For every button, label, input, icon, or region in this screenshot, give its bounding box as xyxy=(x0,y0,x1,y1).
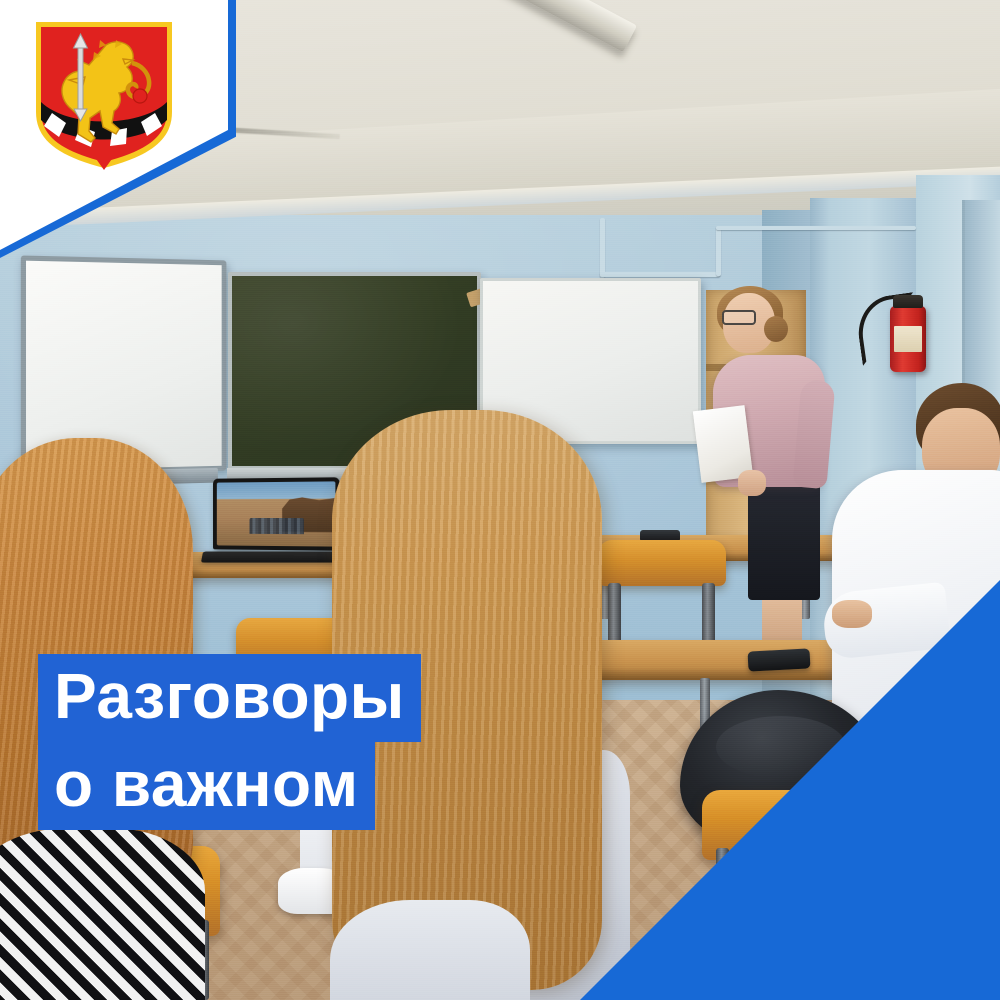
headline-banner: Разговоры о важном xyxy=(38,654,421,830)
headline-line-1: Разговоры xyxy=(38,654,421,742)
teacher-hair-bun xyxy=(764,316,788,342)
smartphone xyxy=(748,648,811,671)
student-center-shirt-lower xyxy=(330,900,530,1000)
student-right-hand xyxy=(832,600,872,628)
wall-conduit-vertical xyxy=(600,218,605,278)
laptop-base xyxy=(201,552,353,563)
laptop xyxy=(213,477,339,550)
poster-canvas: Разговоры о важном xyxy=(0,0,1000,1000)
wall-conduit-horizontal xyxy=(600,272,720,277)
coat-of-arms xyxy=(28,16,180,174)
student-left-jacket xyxy=(0,828,205,1000)
extinguisher-cap xyxy=(893,295,923,308)
wall-conduit-top xyxy=(716,226,916,230)
wall-conduit-riser xyxy=(716,226,721,276)
laptop-image-crowd xyxy=(249,518,304,535)
laptop-screen-image xyxy=(217,481,336,546)
extinguisher-label xyxy=(894,326,922,352)
teacher-hand xyxy=(738,470,766,496)
glasses-icon xyxy=(722,310,756,325)
headline-line-2: о важном xyxy=(38,742,375,830)
chair-mid-1 xyxy=(598,540,726,586)
fire-extinguisher xyxy=(890,306,926,372)
